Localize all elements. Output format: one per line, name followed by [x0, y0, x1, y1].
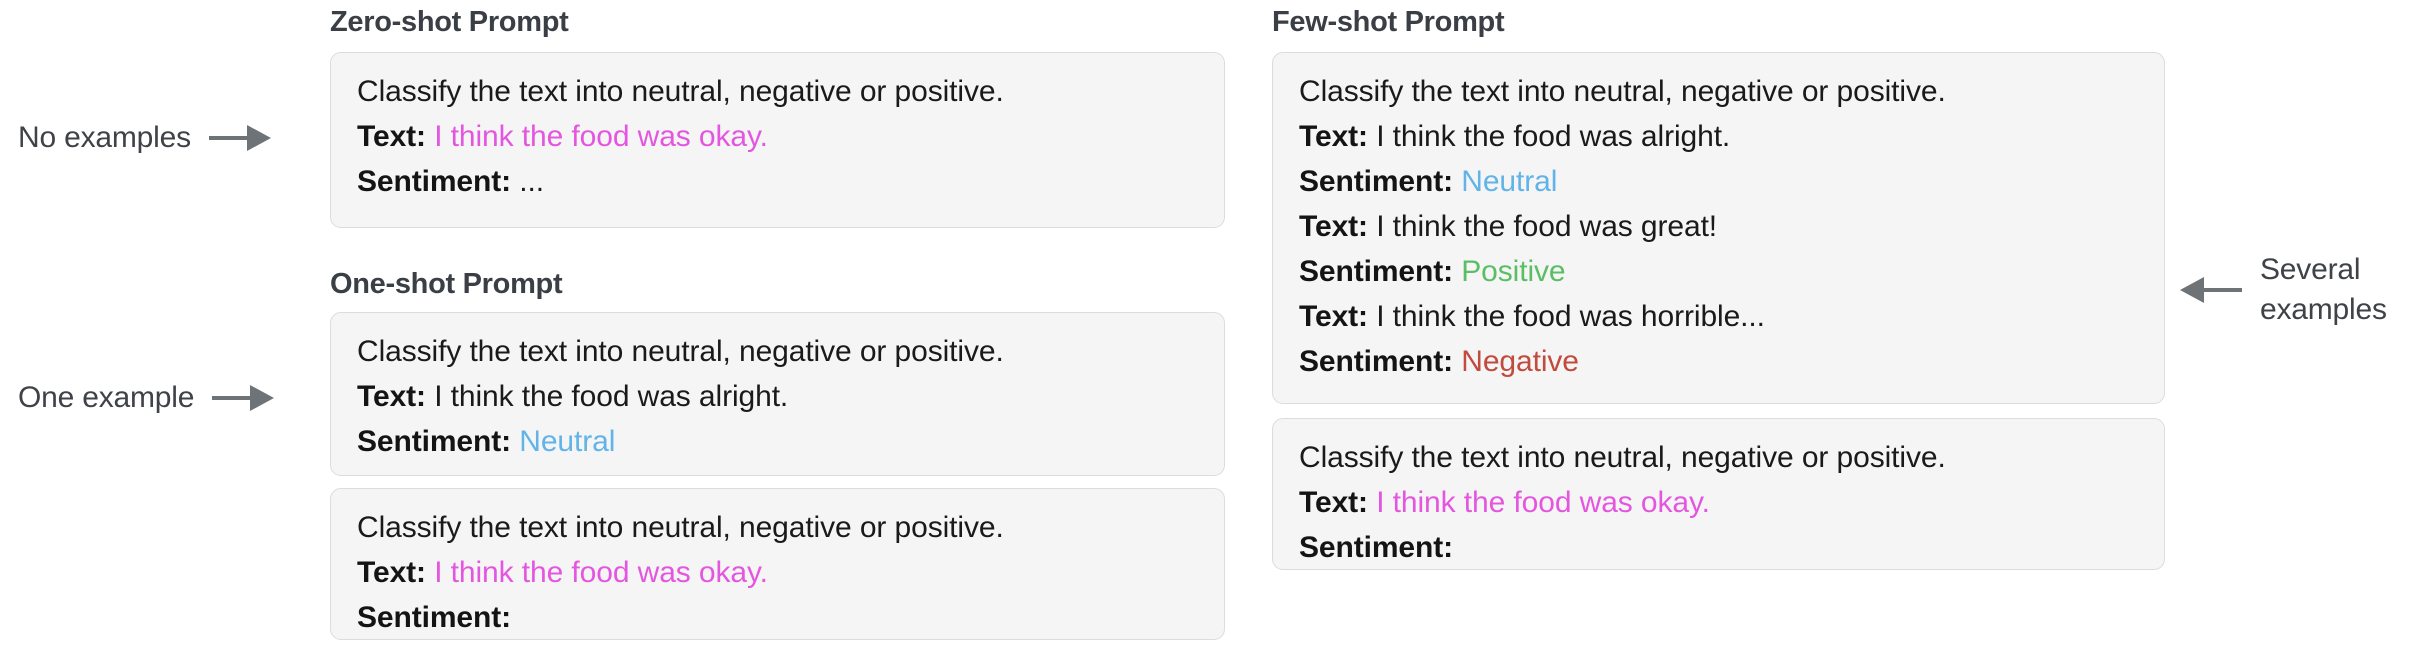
- sentiment-label: Sentiment:: [357, 601, 511, 634]
- prompt-text-line: Text: I think the food was okay.: [357, 550, 1224, 595]
- text-label: Text:: [1299, 120, 1368, 153]
- sentiment-label: Sentiment:: [1299, 345, 1453, 378]
- text-label: Text:: [1299, 210, 1368, 243]
- sentiment-label: Sentiment:: [357, 425, 511, 458]
- instruction-text: Classify the text into neutral, negative…: [1299, 441, 1946, 474]
- one-shot-query-box[interactable]: Classify the text into neutral, negative…: [330, 488, 1225, 640]
- prompt-instruction-line: Classify the text into neutral, negative…: [1299, 435, 2164, 480]
- prompt-text-line: Text: I think the food was okay.: [357, 114, 1224, 159]
- sentiment-value: Positive: [1461, 255, 1565, 288]
- sentiment-label: Sentiment:: [1299, 165, 1453, 198]
- text-label: Text:: [357, 556, 426, 589]
- few-shot-section-title: Few-shot Prompt: [1272, 6, 1504, 39]
- text-value: I think the food was alright.: [1376, 120, 1730, 153]
- text-label: Text:: [357, 120, 426, 153]
- arrow-left-icon: [2180, 277, 2242, 303]
- prompt-instruction-line: Classify the text into neutral, negative…: [1299, 69, 2164, 114]
- few-shot-example-box[interactable]: Classify the text into neutral, negative…: [1272, 52, 2165, 404]
- text-label: Text:: [357, 380, 426, 413]
- prompt-text-line: Text: I think the food was alright.: [1299, 114, 2164, 159]
- few-shot-annotation-line1: Several: [2260, 253, 2360, 286]
- prompt-sentiment-line: Sentiment:: [357, 595, 1224, 640]
- instruction-text: Classify the text into neutral, negative…: [357, 75, 1004, 108]
- text-value: I think the food was okay.: [434, 120, 768, 153]
- text-value: I think the food was great!: [1376, 210, 1717, 243]
- text-label: Text:: [1299, 300, 1368, 333]
- one-shot-example-box[interactable]: Classify the text into neutral, negative…: [330, 312, 1225, 476]
- prompt-text-line: Text: I think the food was great!: [1299, 204, 2164, 249]
- prompt-text-line: Text: I think the food was alright.: [357, 374, 1224, 419]
- prompt-sentiment-line: Sentiment: Neutral: [357, 419, 1224, 464]
- sentiment-label: Sentiment:: [1299, 255, 1453, 288]
- prompt-sentiment-line: Sentiment:: [1299, 525, 2164, 570]
- zero-shot-prompt-box[interactable]: Classify the text into neutral, negative…: [330, 52, 1225, 228]
- instruction-text: Classify the text into neutral, negative…: [357, 511, 1004, 544]
- few-shot-annotation-label: Several examples: [2260, 250, 2420, 330]
- sentiment-value: Neutral: [1461, 165, 1557, 198]
- text-label: Text:: [1299, 486, 1368, 519]
- prompt-sentiment-line: Sentiment: Neutral: [1299, 159, 2164, 204]
- one-shot-annotation-label: One example: [18, 378, 194, 418]
- instruction-text: Classify the text into neutral, negative…: [1299, 75, 1946, 108]
- zero-shot-annotation-label: No examples: [18, 118, 191, 158]
- arrow-right-icon: [212, 385, 274, 411]
- prompt-instruction-line: Classify the text into neutral, negative…: [357, 69, 1224, 114]
- one-shot-annotation: One example: [18, 378, 274, 418]
- text-value: I think the food was alright.: [434, 380, 788, 413]
- prompt-instruction-line: Classify the text into neutral, negative…: [357, 505, 1224, 550]
- instruction-text: Classify the text into neutral, negative…: [357, 335, 1004, 368]
- arrow-right-icon: [209, 125, 271, 151]
- prompt-sentiment-line: Sentiment: ...: [357, 159, 1224, 204]
- zero-shot-annotation: No examples: [18, 118, 271, 158]
- prompt-instruction-line: Classify the text into neutral, negative…: [357, 329, 1224, 374]
- sentiment-value: Neutral: [519, 425, 615, 458]
- text-value: I think the food was okay.: [434, 556, 768, 589]
- few-shot-annotation: Several examples: [2180, 250, 2420, 330]
- few-shot-query-box[interactable]: Classify the text into neutral, negative…: [1272, 418, 2165, 570]
- sentiment-value: ...: [519, 165, 544, 198]
- text-value: I think the food was okay.: [1376, 486, 1710, 519]
- sentiment-value: Negative: [1461, 345, 1579, 378]
- prompt-text-line: Text: I think the food was okay.: [1299, 480, 2164, 525]
- sentiment-label: Sentiment:: [1299, 531, 1453, 564]
- prompt-text-line: Text: I think the food was horrible...: [1299, 294, 2164, 339]
- text-value: I think the food was horrible...: [1376, 300, 1765, 333]
- sentiment-label: Sentiment:: [357, 165, 511, 198]
- zero-shot-section-title: Zero-shot Prompt: [330, 6, 568, 39]
- one-shot-section-title: One-shot Prompt: [330, 268, 562, 301]
- prompt-sentiment-line: Sentiment: Negative: [1299, 339, 2164, 384]
- few-shot-annotation-line2: examples: [2260, 293, 2387, 326]
- prompt-sentiment-line: Sentiment: Positive: [1299, 249, 2164, 294]
